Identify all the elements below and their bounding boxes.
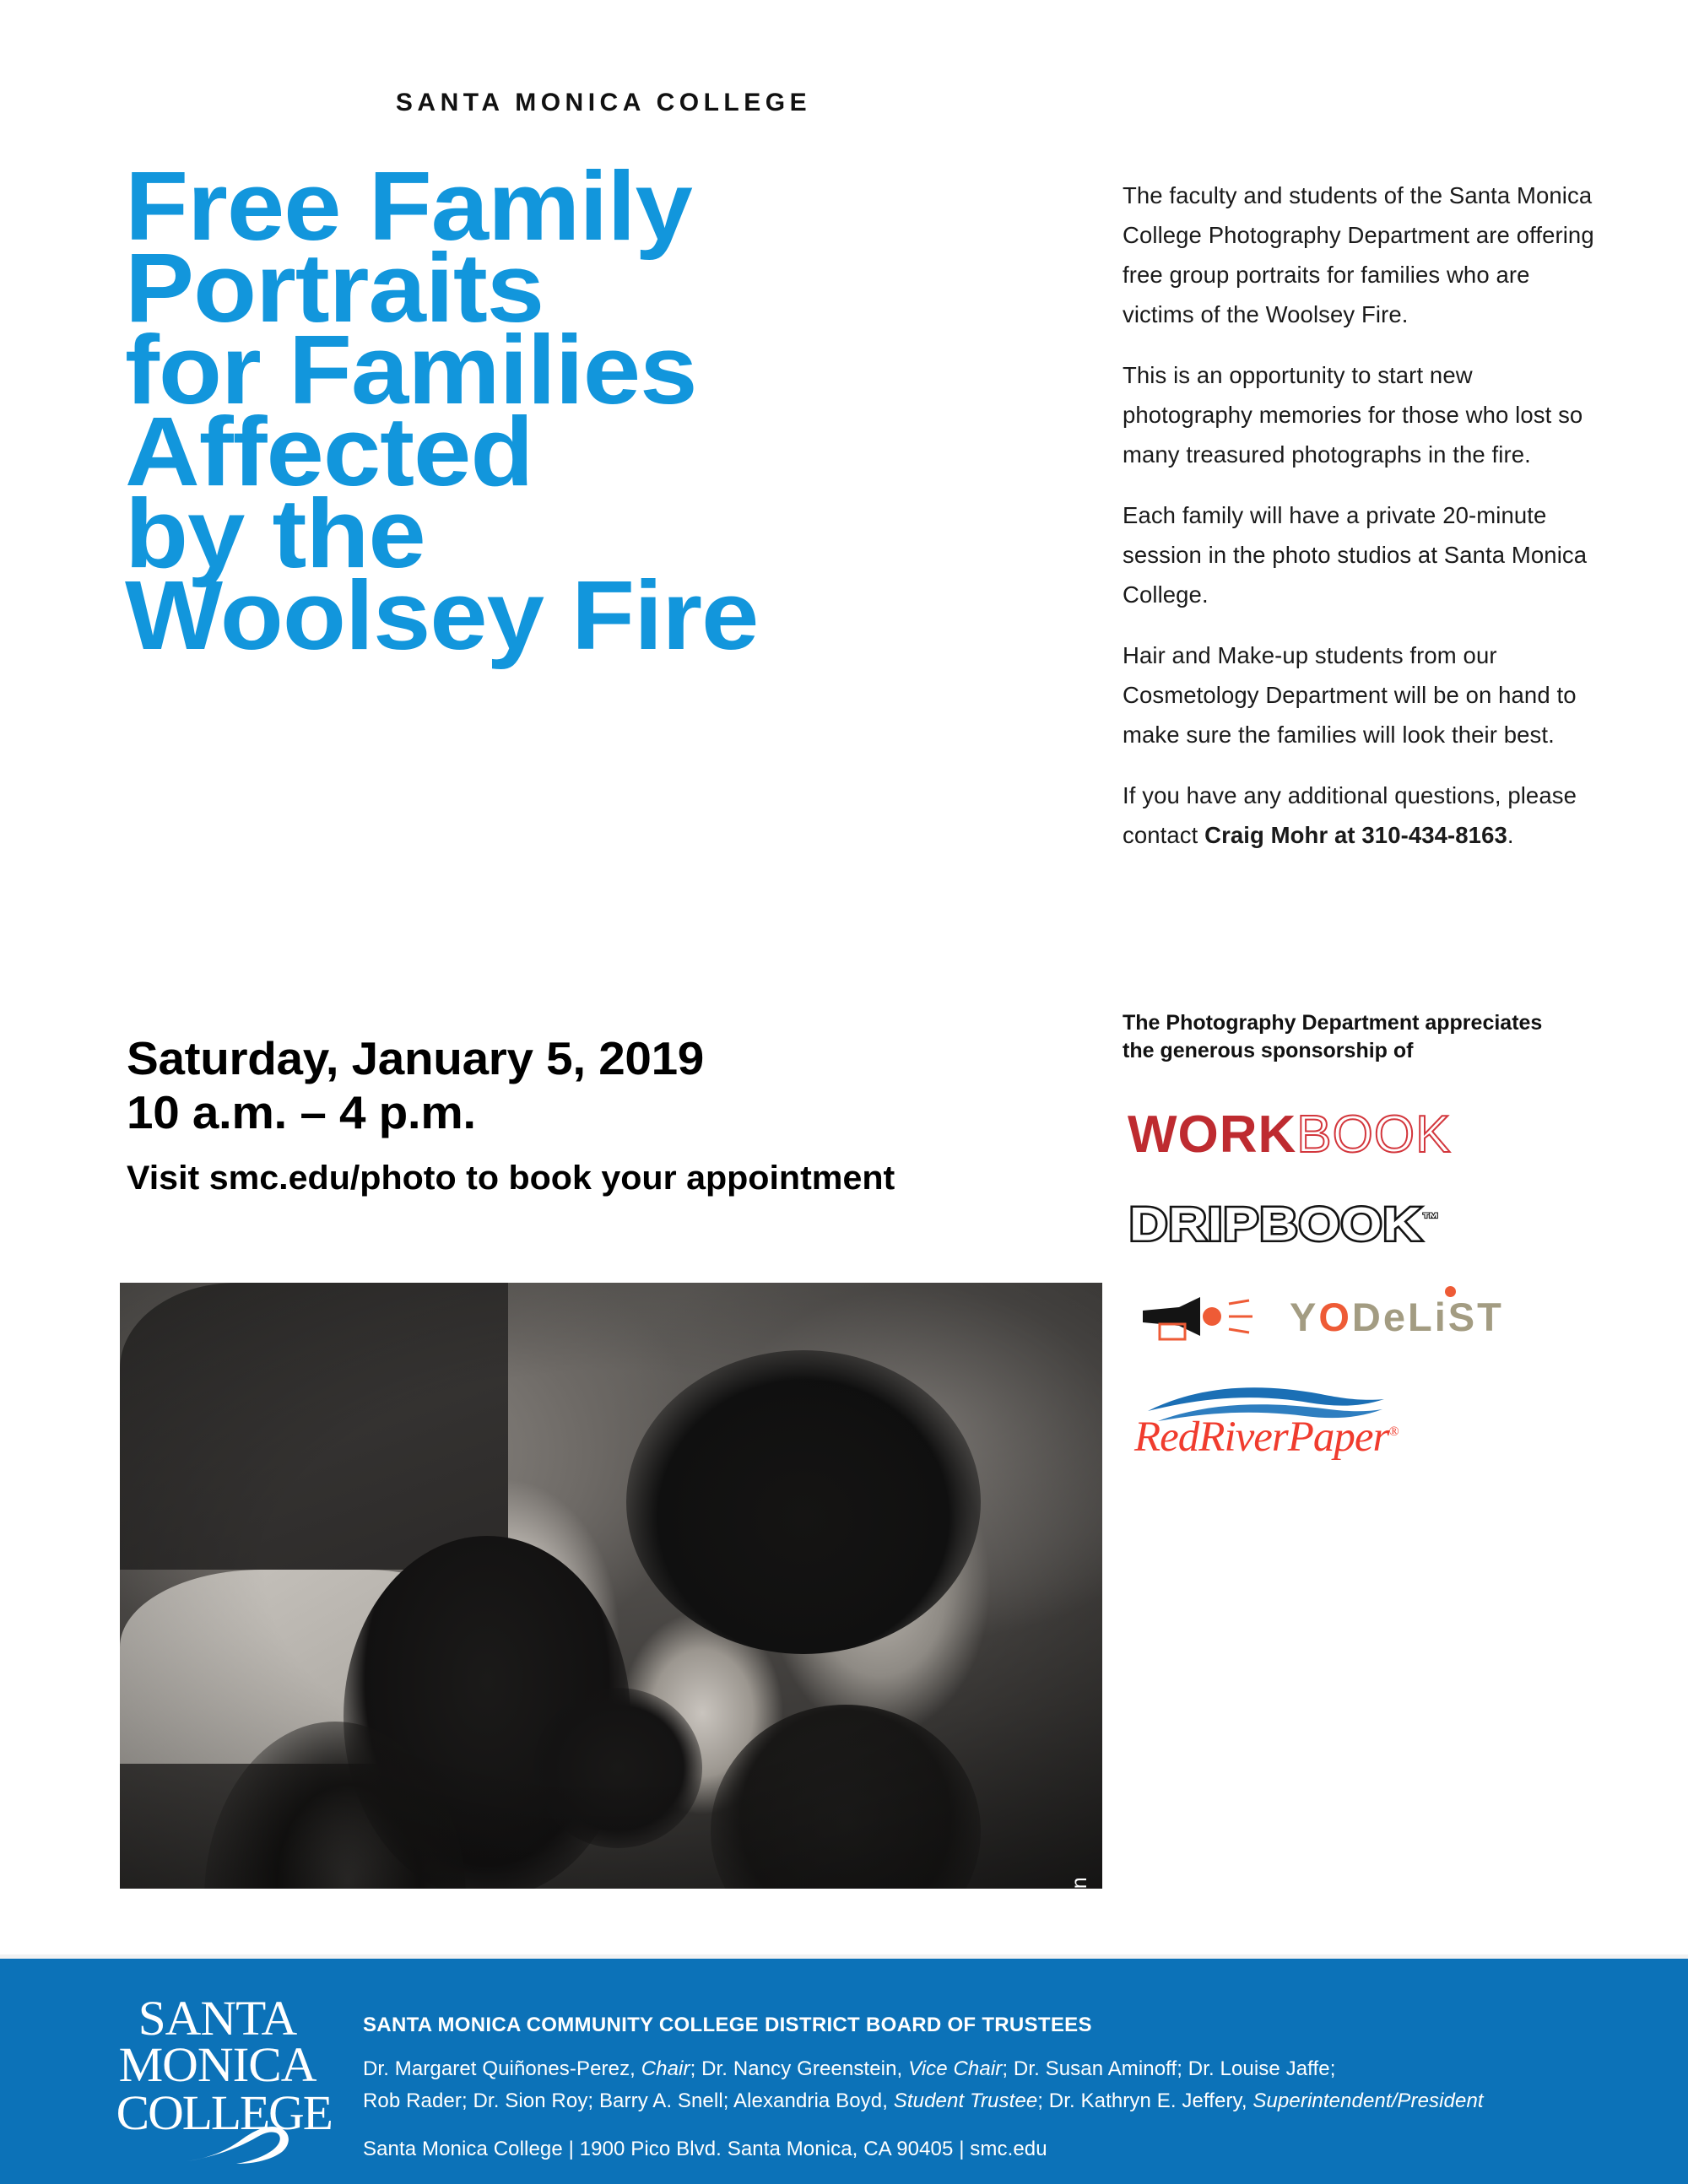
headline: Free Family Portraits for Families Affec… <box>125 165 1096 657</box>
sponsor-block: The Photography Department appreciates t… <box>1123 1009 1629 1458</box>
registered-mark-icon: ® <box>1388 1424 1398 1439</box>
trustees-heading: SANTA MONICA COMMUNITY COLLEGE DISTRICT … <box>363 2013 1570 2038</box>
workbook-logo-solid: WORK <box>1128 1106 1296 1164</box>
trustee-role-vice-chair: Vice Chair <box>908 2057 1002 2080</box>
yodelist-word-post: DeLiST <box>1352 1295 1504 1339</box>
dripbook-logo[interactable]: DRIPBOOK™ <box>1129 1193 1688 1250</box>
trustee-name-2: ; Dr. Nancy Greenstein, <box>690 2057 909 2080</box>
event-cta-booking[interactable]: Visit smc.edu/photo to book your appoint… <box>127 1158 1127 1198</box>
smc-logo: SANTA MONICA COLLEGE <box>118 1996 316 2156</box>
footer-text-block: SANTA MONICA COMMUNITY COLLEGE DISTRICT … <box>363 2013 1570 2163</box>
trustee-names-3: ; Dr. Susan Aminoff; Dr. Louise Jaffe; <box>1002 2057 1335 2080</box>
yodelist-word-o: O <box>1318 1295 1352 1339</box>
body-copy-column: The faculty and students of the Santa Mo… <box>1123 176 1604 876</box>
body-paragraph-2: This is an opportunity to start new phot… <box>1123 355 1604 474</box>
body-paragraph-3: Each family will have a private 20-minut… <box>1123 495 1604 614</box>
trustee-names-4: Rob Rader; Dr. Sion Roy; Barry A. Snell;… <box>363 2089 894 2112</box>
photo-credit: Photo by: Rayne Fitton <box>1068 1877 1092 1889</box>
workbook-logo-outline: BOOK <box>1296 1106 1451 1164</box>
yodelist-dot-icon <box>1445 1286 1456 1297</box>
body-paragraph-1: The faculty and students of the Santa Mo… <box>1123 176 1604 334</box>
smc-logo-line-2: MONICA <box>116 2041 319 2089</box>
workbook-logo[interactable]: WORKBOOK <box>1128 1106 1629 1165</box>
sponsor-logo-list: WORKBOOK DRIPBOOK™ YODeLiST <box>1123 1106 1629 1458</box>
smc-logo-line-1: SANTA <box>116 1996 319 2041</box>
dripbook-trademark-icon: ™ <box>1422 1210 1440 1227</box>
smc-logo-swoosh-icon <box>184 2124 294 2170</box>
event-info: Saturday, January 5, 2019 10 a.m. – 4 p.… <box>127 1031 1097 1198</box>
trustee-role-superintendent: Superintendent/President <box>1252 2089 1483 2112</box>
redriverpaper-logo[interactable]: RedRiverPaper® <box>1134 1379 1489 1458</box>
event-time: 10 a.m. – 4 p.m. <box>127 1085 1127 1139</box>
contact-phone[interactable]: 310-434-8163 <box>1361 822 1507 848</box>
footer-address: Santa Monica College | 1900 Pico Blvd. S… <box>363 2136 1570 2163</box>
yodelist-wordmark: YODeLiST <box>1290 1294 1504 1340</box>
trustee-name-1: Dr. Margaret Quiñones-Perez, <box>363 2057 641 2080</box>
trustee-name-5: ; Dr. Kathryn E. Jeffery, <box>1037 2089 1252 2112</box>
body-paragraph-5-contact: If you have any additional questions, pl… <box>1123 776 1604 855</box>
megaphone-icon <box>1141 1289 1268 1345</box>
footer-band: SANTA MONICA COLLEGE SANTA MONICA COMMUN… <box>0 1954 1688 2184</box>
event-date: Saturday, January 5, 2019 <box>127 1031 1127 1085</box>
photo-image <box>120 1283 1102 1889</box>
family-portrait-photo: Photo by: Rayne Fitton <box>120 1283 1102 1889</box>
yodelist-logo[interactable]: YODeLiST <box>1141 1289 1629 1345</box>
headline-line-6: Woolsey Fire <box>125 575 1154 657</box>
sponsor-intro-text: The Photography Department appreciates t… <box>1123 1009 1561 1065</box>
redriverpaper-wordmark: RedRiverPaper® <box>1134 1413 1399 1462</box>
contact-name: Craig Mohr at <box>1204 822 1355 848</box>
trustees-line-2: Rob Rader; Dr. Sion Roy; Barry A. Snell;… <box>363 2085 1570 2117</box>
institution-eyebrow: SANTA MONICA COLLEGE <box>0 89 1207 117</box>
body-paragraph-4: Hair and Make-up students from our Cosme… <box>1123 635 1604 754</box>
dripbook-logo-word: DRIPBOOK <box>1129 1197 1422 1251</box>
contact-suffix: . <box>1507 822 1514 848</box>
redriverpaper-word: RedRiverPaper <box>1134 1414 1388 1461</box>
photo-vignette <box>120 1283 1102 1889</box>
yodelist-word-pre: Y <box>1290 1295 1318 1339</box>
poster-page: SANTA MONICA COLLEGE Free Family Portrai… <box>0 0 1688 2184</box>
trustee-role-chair: Chair <box>641 2057 690 2080</box>
trustee-role-student: Student Trustee <box>894 2089 1037 2112</box>
trustees-line-1: Dr. Margaret Quiñones-Perez, Chair; Dr. … <box>363 2053 1570 2085</box>
